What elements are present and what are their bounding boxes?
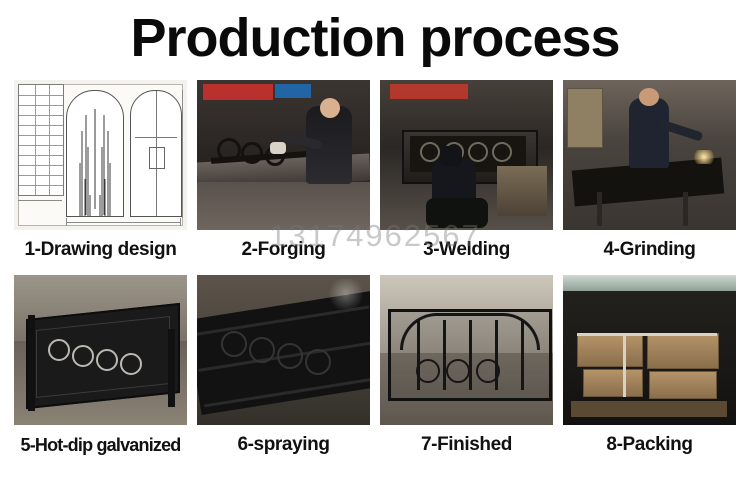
process-step-7: 7-Finished (380, 275, 553, 462)
process-step-5: 5-Hot-dip galvanized (14, 275, 187, 462)
finished-photo (380, 275, 553, 425)
packing-photo (563, 275, 736, 425)
forging-photo (197, 80, 370, 230)
process-step-3-caption: 3-Welding (380, 230, 553, 267)
technical-drawing-photo (14, 80, 187, 230)
process-step-3: 3-Welding (380, 80, 553, 267)
process-step-1: 1-Drawing design (14, 80, 187, 267)
process-step-6-caption: 6-spraying (197, 425, 370, 462)
process-step-8: 8-Packing (563, 275, 736, 462)
process-step-5-caption: 5-Hot-dip galvanized (14, 425, 187, 462)
welding-photo (380, 80, 553, 230)
spraying-photo (197, 275, 370, 425)
process-row-top: 1-Drawing design (14, 80, 736, 267)
process-step-7-caption: 7-Finished (380, 425, 553, 462)
production-process-poster: Production process (0, 0, 750, 500)
process-step-4: 4-Grinding (563, 80, 736, 267)
grinding-photo (563, 80, 736, 230)
process-row-bottom: 5-Hot-dip galvanized 6-sp (14, 275, 736, 462)
hot-dip-galvanized-photo (14, 275, 187, 425)
process-step-2-caption: 2-Forging (197, 230, 370, 267)
process-grid: 1-Drawing design (14, 80, 736, 462)
process-step-6: 6-spraying (197, 275, 370, 462)
process-step-2: 2-Forging (197, 80, 370, 267)
process-step-8-caption: 8-Packing (563, 425, 736, 462)
page-title: Production process (0, 6, 750, 70)
process-step-4-caption: 4-Grinding (563, 230, 736, 267)
process-step-1-caption: 1-Drawing design (14, 230, 187, 267)
